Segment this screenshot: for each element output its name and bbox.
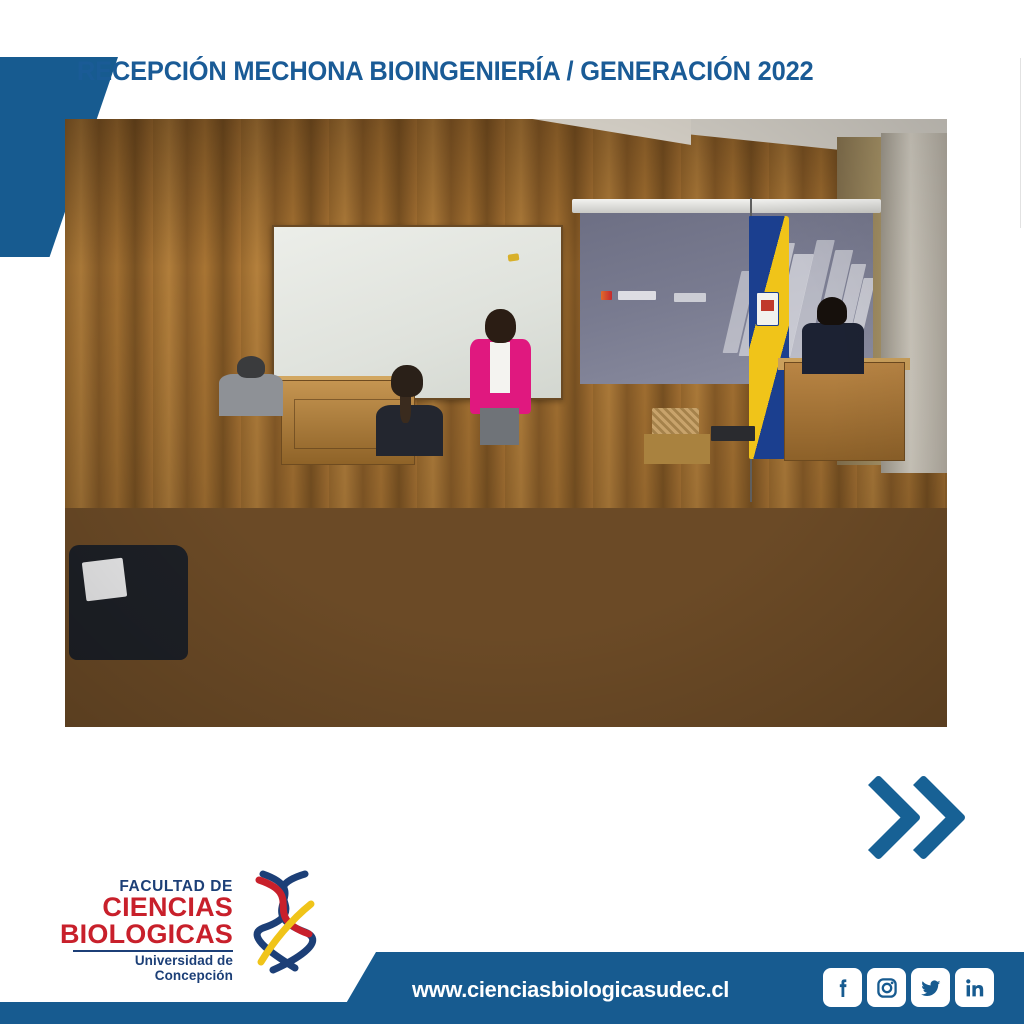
footer-bar: www.cienciasbiologicasudec.cl xyxy=(0,952,1024,1024)
event-photo xyxy=(65,119,947,727)
instagram-icon[interactable] xyxy=(867,968,906,1007)
page-title: RECEPCIÓN MECHONA BIOINGENIERÍA / GENERA… xyxy=(77,56,922,87)
right-hairline-divider xyxy=(1020,58,1021,228)
logo-line-biologicas: BIOLOGICAS xyxy=(60,921,233,948)
twitter-icon[interactable] xyxy=(911,968,950,1007)
chevron-right-icon-2 xyxy=(880,774,966,860)
website-url[interactable]: www.cienciasbiologicasudec.cl xyxy=(412,977,729,1003)
logo-line-ciencias: CIENCIAS xyxy=(102,894,233,921)
photo-vignette xyxy=(65,119,947,727)
facebook-icon[interactable] xyxy=(823,968,862,1007)
social-links xyxy=(823,968,994,1007)
linkedin-icon[interactable] xyxy=(955,968,994,1007)
